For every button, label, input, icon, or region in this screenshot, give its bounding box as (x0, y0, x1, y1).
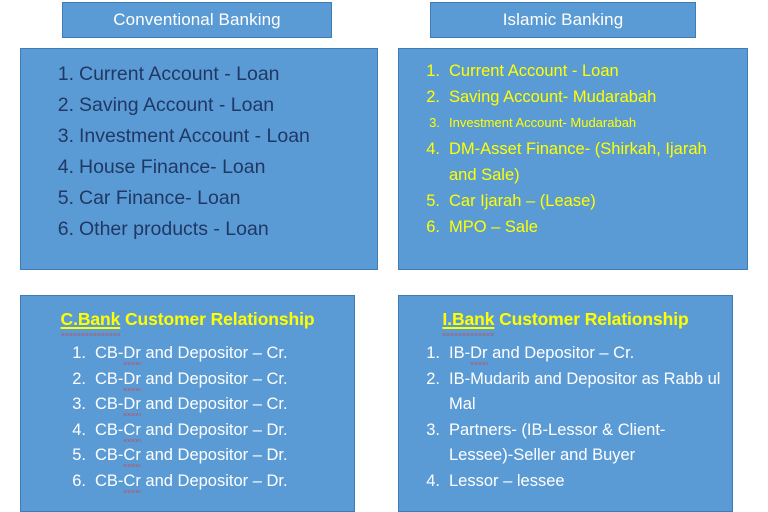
list-item: 3.Partners- (IB-Lessor & Client-Lessee)-… (423, 418, 732, 469)
slide-canvas: Conventional Banking Islamic Banking 1.C… (0, 0, 768, 512)
list-item: 4.CB-Cr and Depositor – Dr. (69, 418, 354, 444)
spellcheck-flagged-word: Cr (123, 446, 140, 464)
list-item-text: Lessor – lessee (449, 469, 732, 495)
list-item: 2.CB-Dr and Depositor – Cr. (69, 367, 354, 393)
list-item-number: 2. (423, 367, 440, 393)
list-item: 1.CB-Dr and Depositor – Cr. (69, 341, 354, 367)
list-item-number: 2. (69, 367, 86, 393)
list-item-number: 3. (425, 110, 440, 136)
list-item-text-rest: and Depositor – Cr. (488, 344, 635, 362)
list-item-text-rest: Lessor – lessee (449, 472, 565, 490)
spellcheck-flagged-word: Dr (123, 395, 140, 413)
list-item: 6.Other products - Loan (54, 214, 377, 245)
list-item-number: 4. (425, 136, 440, 162)
list-item-text: MPO – Sale (449, 214, 747, 240)
list-item-number: 6. (54, 214, 74, 245)
list-item-text: CB-Dr and Depositor – Cr. (95, 392, 354, 418)
islamic-products-list: 1.Current Account - Loan2.Saving Account… (399, 49, 747, 240)
spellcheck-flagged-word: Dr (470, 344, 487, 362)
list-item-text-prefix: CB- (95, 370, 123, 388)
list-item-text: Saving Account- Mudarabah (449, 84, 747, 110)
list-item: 2.IB-Mudarib and Depositor as Rabb ul Ma… (423, 367, 732, 418)
list-item-number: 4. (54, 152, 74, 183)
list-item-text-rest: and Depositor – Dr. (141, 446, 288, 464)
spellcheck-flagged-word: Dr (123, 344, 140, 362)
panel-conventional-products[interactable]: 1.Current Account - Loan2.Saving Account… (20, 48, 378, 270)
cbank-title-rest: Customer Relationship (120, 309, 314, 329)
list-item-text-prefix: IB- (449, 344, 470, 362)
list-item-number: 4. (423, 469, 440, 495)
list-item: 4.Lessor – lessee (423, 469, 732, 495)
list-item: 1.Current Account - Loan (425, 58, 747, 84)
list-item: 4.DM-Asset Finance- (Shirkah, Ijarah and… (425, 136, 747, 188)
list-item-text: IB-Mudarib and Depositor as Rabb ul Mal (449, 367, 721, 418)
list-item-number: 4. (69, 418, 86, 444)
list-item: 5.CB-Cr and Depositor – Dr. (69, 443, 354, 469)
list-item: 1.Current Account - Loan (54, 59, 377, 90)
ibank-relationship-list: 1.IB-Dr and Depositor – Cr.2.IB-Mudarib … (399, 330, 732, 494)
cbank-relationship-list: 1.CB-Dr and Depositor – Cr.2.CB-Dr and D… (21, 330, 354, 494)
header-conventional-label: Conventional Banking (113, 10, 280, 30)
list-item: 3.Investment Account - Loan (54, 121, 377, 152)
list-item: 2.Saving Account- Mudarabah (425, 84, 747, 110)
list-item-text-prefix: CB- (95, 395, 123, 413)
list-item-number: 2. (425, 84, 440, 110)
list-item-number: 3. (54, 121, 74, 152)
cbank-title-prefix: C.Bank (61, 309, 121, 329)
list-item-number: 5. (425, 188, 440, 214)
list-item-number: 5. (69, 443, 86, 469)
list-item-text: Current Account - Loan (79, 59, 377, 90)
list-item-text: Other products - Loan (79, 214, 377, 245)
list-item-text-rest: and Depositor – Dr. (141, 421, 288, 439)
list-item-text: CB-Cr and Depositor – Dr. (95, 443, 354, 469)
list-item-text-prefix: CB- (95, 421, 123, 439)
list-item: 4.House Finance- Loan (54, 152, 377, 183)
list-item-number: 6. (425, 214, 440, 240)
spellcheck-flagged-word: Cr (123, 421, 140, 439)
list-item: 5.Car Ijarah – (Lease) (425, 188, 747, 214)
list-item-text-prefix: CB- (95, 344, 123, 362)
list-item-text-rest: and Depositor – Cr. (141, 395, 288, 413)
list-item-text: Saving Account - Loan (79, 90, 377, 121)
list-item: 2.Saving Account - Loan (54, 90, 377, 121)
list-item-text: CB-Dr and Depositor – Cr. (95, 341, 354, 367)
list-item-text-rest: Partners- (IB-Lessor & Client-Lessee)-Se… (449, 421, 665, 465)
list-item-text: CB-Dr and Depositor – Cr. (95, 367, 354, 393)
list-item-text-rest: IB-Mudarib and Depositor as Rabb ul Mal (449, 370, 720, 414)
spellcheck-flagged-word: Cr (123, 472, 140, 490)
panel-ibank-customer-relationship[interactable]: I.Bank Customer Relationship 1.IB-Dr and… (398, 295, 733, 512)
list-item-text: CB-Cr and Depositor – Dr. (95, 418, 354, 444)
list-item-text-rest: and Depositor – Cr. (141, 370, 288, 388)
cbank-relationship-title: C.Bank Customer Relationship (21, 296, 354, 330)
list-item-text: IB-Dr and Depositor – Cr. (449, 341, 732, 367)
list-item-number: 1. (54, 59, 74, 90)
list-item-text: Current Account - Loan (449, 58, 747, 84)
list-item-text-rest: and Depositor – Dr. (141, 472, 288, 490)
list-item-text: Car Ijarah – (Lease) (449, 188, 747, 214)
list-item-text: Car Finance- Loan (79, 183, 377, 214)
list-item-text: DM-Asset Finance- (Shirkah, Ijarah and S… (449, 136, 727, 188)
list-item-number: 1. (423, 341, 440, 367)
list-item-text: CB-Cr and Depositor – Dr. (95, 469, 354, 495)
list-item-number: 3. (69, 392, 86, 418)
list-item: 6.MPO – Sale (425, 214, 747, 240)
list-item-text: Investment Account - Loan (79, 121, 377, 152)
spellcheck-flagged-word: Dr (123, 370, 140, 388)
list-item: 5.Car Finance- Loan (54, 183, 377, 214)
header-islamic-label: Islamic Banking (503, 10, 624, 30)
list-item-text: Partners- (IB-Lessor & Client-Lessee)-Se… (449, 418, 721, 469)
header-conventional-banking[interactable]: Conventional Banking (62, 2, 332, 38)
list-item: 3.Investment Account- Mudarabah (425, 110, 747, 136)
panel-islamic-products[interactable]: 1.Current Account - Loan2.Saving Account… (398, 48, 748, 270)
list-item-text-prefix: CB- (95, 446, 123, 464)
panel-cbank-customer-relationship[interactable]: C.Bank Customer Relationship 1.CB-Dr and… (20, 295, 355, 512)
list-item-text-prefix: CB- (95, 472, 123, 490)
list-item-number: 1. (425, 58, 440, 84)
list-item-text: House Finance- Loan (79, 152, 377, 183)
list-item-number: 2. (54, 90, 74, 121)
list-item: 1.IB-Dr and Depositor – Cr. (423, 341, 732, 367)
conventional-products-list: 1.Current Account - Loan2.Saving Account… (21, 49, 377, 245)
list-item-number: 6. (69, 469, 86, 495)
ibank-relationship-title: I.Bank Customer Relationship (399, 296, 732, 330)
list-item-text: Investment Account- Mudarabah (449, 110, 747, 136)
list-item-text-rest: and Depositor – Cr. (141, 344, 288, 362)
list-item-number: 1. (69, 341, 86, 367)
list-item-number: 3. (423, 418, 440, 444)
header-islamic-banking[interactable]: Islamic Banking (430, 2, 696, 38)
list-item: 3.CB-Dr and Depositor – Cr. (69, 392, 354, 418)
ibank-title-prefix: I.Bank (442, 309, 494, 329)
list-item: 6.CB-Cr and Depositor – Dr. (69, 469, 354, 495)
list-item-number: 5. (54, 183, 74, 214)
ibank-title-rest: Customer Relationship (494, 309, 688, 329)
